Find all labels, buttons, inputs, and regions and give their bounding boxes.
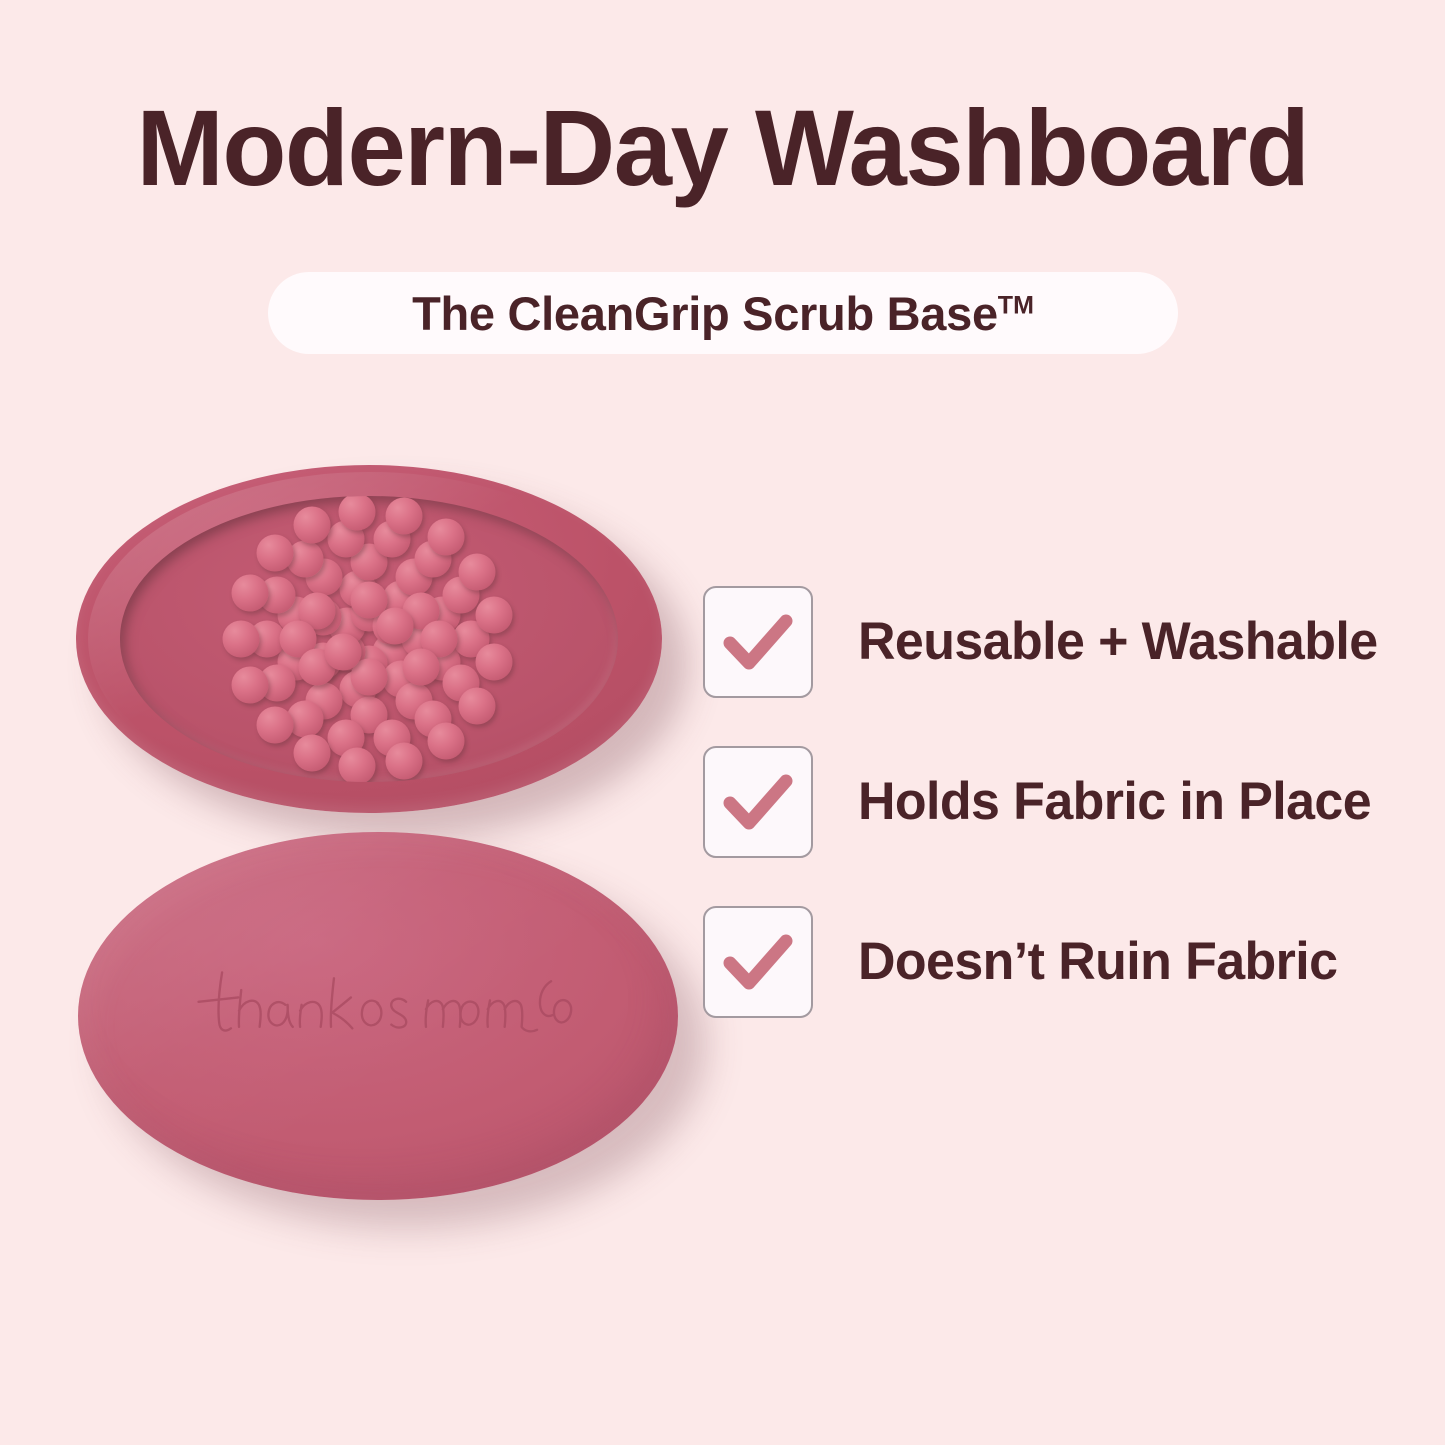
scrub-bump [232,666,269,703]
feature-list: Reusable + Washable Holds Fabric in Plac… [703,586,1423,1018]
product-infographic: Modern-Day Washboard The CleanGrip Scrub… [0,0,1445,1445]
scrub-bump [385,498,422,535]
feature-item: Holds Fabric in Place [703,746,1423,858]
feature-item: Doesn’t Ruin Fabric [703,906,1423,1018]
feature-label: Holds Fabric in Place [858,773,1371,831]
feature-label: Doesn’t Ruin Fabric [858,933,1337,991]
bump-field [120,496,618,781]
scrub-bump [223,620,260,657]
checkbox-reusable-washable[interactable] [703,586,813,698]
scrub-bump [339,747,376,781]
textured-scrub-oval [76,465,662,813]
subtitle-text: The CleanGrip Scrub BaseTM [412,286,1034,341]
scrub-bump [427,722,464,759]
scrub-bump [402,649,439,686]
checkbox-holds-fabric-in-place[interactable] [703,746,813,858]
check-icon [722,771,794,833]
subtitle-label: The CleanGrip Scrub Base [412,287,998,340]
scrub-bump [476,597,513,634]
page-title: Modern-Day Washboard [22,92,1424,204]
scrub-bump [427,519,464,556]
smooth-base-oval [78,832,678,1200]
scrub-bump [385,743,422,780]
scrub-bump [339,496,376,530]
scrub-bump [294,734,331,771]
product-photo [40,440,700,1240]
trademark-mark: TM [998,291,1034,319]
check-icon [722,611,794,673]
scrub-bump [376,607,413,644]
scrub-bump [459,687,496,724]
scrub-bump [256,706,293,743]
scrub-bump [256,534,293,571]
brand-engraving-logo [126,968,642,1049]
check-icon [722,931,794,993]
checkbox-doesnt-ruin-fabric[interactable] [703,906,813,1018]
scrub-bump [232,574,269,611]
feature-label: Reusable + Washable [858,613,1377,671]
scrub-bump [325,633,362,670]
subtitle-pill: The CleanGrip Scrub BaseTM [268,272,1178,354]
scrub-bump [459,553,496,590]
scrub-bump [294,506,331,543]
scrub-bump [287,541,324,578]
scrub-bump [476,644,513,681]
feature-item: Reusable + Washable [703,586,1423,698]
